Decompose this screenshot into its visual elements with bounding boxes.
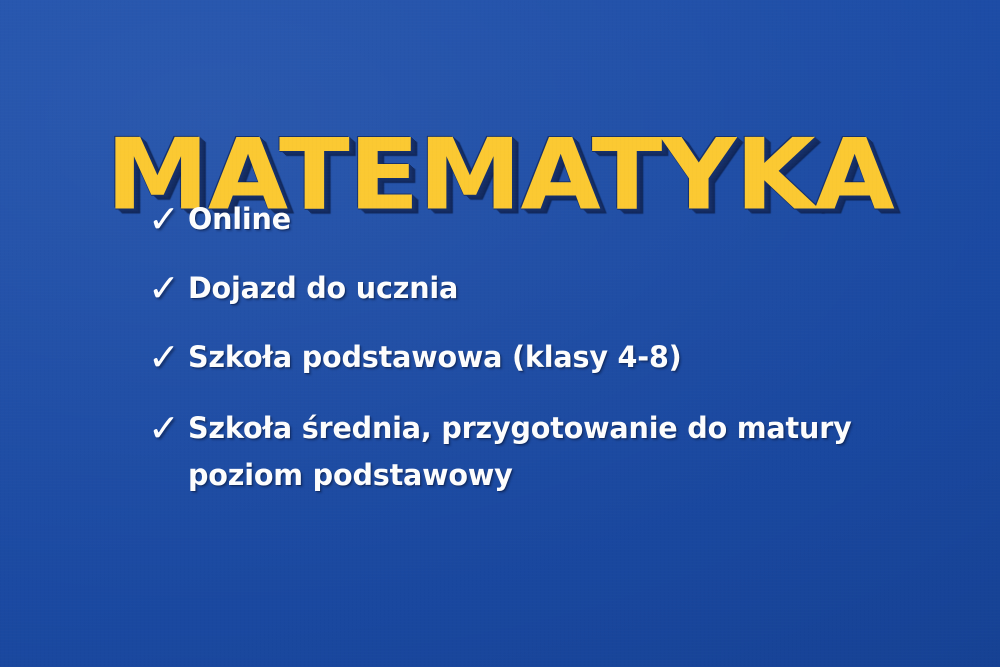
list-item-label: Online: [188, 196, 925, 243]
check-icon: ✓: [148, 335, 188, 379]
poster-canvas: MATEMATYKA ✓ Online ✓ Dojazd do ucznia ✓…: [0, 0, 1000, 667]
check-icon: ✓: [148, 266, 188, 310]
list-item-dojazd: ✓ Dojazd do ucznia: [148, 265, 948, 312]
check-icon: ✓: [148, 197, 188, 241]
list-item-online: ✓ Online: [148, 196, 948, 243]
list-item-szkola-podstawowa: ✓ Szkoła podstawowa (klasy 4-8): [148, 334, 948, 381]
list-item-label: Dojazd do ucznia: [188, 265, 925, 312]
list-item-label: Szkoła średnia, przygotowanie do matury …: [188, 405, 925, 499]
list-item-label: Szkoła podstawowa (klasy 4-8): [188, 334, 925, 381]
check-icon: ✓: [148, 406, 188, 450]
list-item-szkola-srednia: ✓ Szkoła średnia, przygotowanie do matur…: [148, 405, 948, 499]
feature-list: ✓ Online ✓ Dojazd do ucznia ✓ Szkoła pod…: [148, 196, 948, 499]
